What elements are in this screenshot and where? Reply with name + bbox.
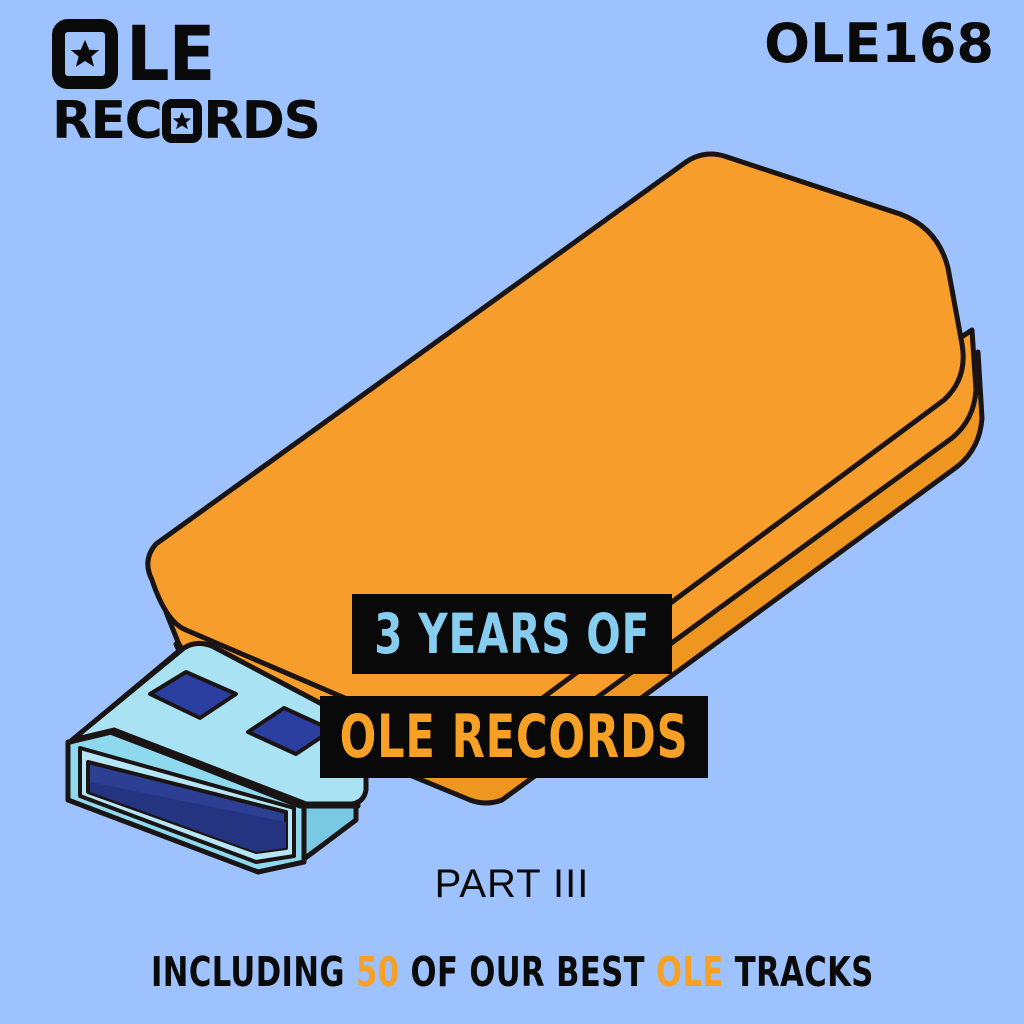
logo-rec-text: REC <box>52 98 161 144</box>
logo-line-ole: LE <box>52 18 322 90</box>
catalog-number: OLE168 <box>764 12 994 75</box>
logo-o-with-star <box>52 19 118 89</box>
tagline-track-count: 50 <box>356 948 399 996</box>
logo-line-records: REC RDS <box>52 96 322 146</box>
banner-3-years-of: 3 YEARS OF <box>352 594 672 674</box>
usb-connector-front-face <box>68 732 304 872</box>
part-label: PART III <box>0 862 1024 907</box>
tagline-segment-3: TRACKS <box>723 948 873 996</box>
tagline-segment-2: OF OUR BEST <box>399 948 656 996</box>
album-cover: LE REC RDS OLE168 3 YEARS OF OLE RECORDS… <box>0 0 1024 1024</box>
usb-connector-opening <box>80 748 294 862</box>
banner-label-text: OLE RECORDS <box>340 707 689 767</box>
banner-years-text: 3 YEARS OF <box>374 607 650 662</box>
usb-connector-interior <box>88 762 286 852</box>
tagline: INCLUDING 50 OF OUR BEST OLE TRACKS <box>0 948 1024 996</box>
usb-connector-hole-left <box>150 672 236 718</box>
banner-ole-records: OLE RECORDS <box>320 696 708 778</box>
tagline-label-name: OLE <box>656 948 724 996</box>
usb-connector-tongue <box>90 782 286 852</box>
usb-connector-top-face <box>70 650 358 806</box>
ole-records-logo: LE REC RDS <box>52 18 322 146</box>
tagline-segment-1: INCLUDING <box>151 948 356 996</box>
logo-records-o-with-star <box>162 99 202 143</box>
logo-rds-text: RDS <box>203 98 319 144</box>
logo-le-text: LE <box>126 21 214 87</box>
